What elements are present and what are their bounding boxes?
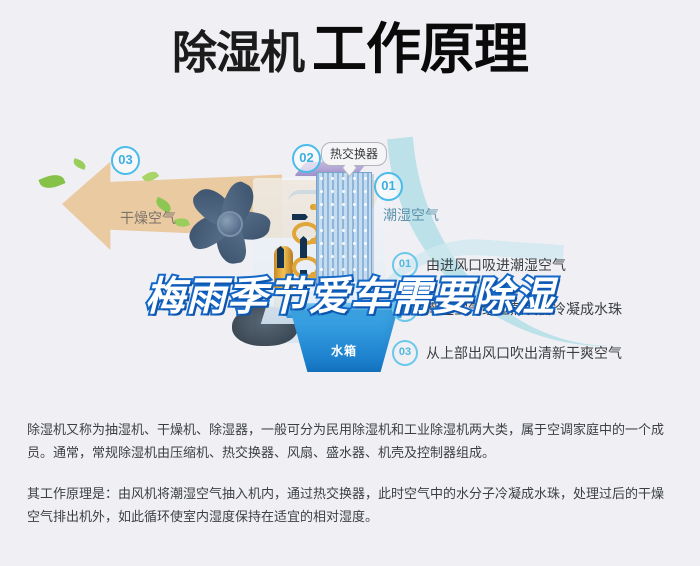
diagram-stage: 水箱 03 02 01 热交换器 干燥空气 潮湿空气 01 由进风口吸进潮湿空气…: [0, 110, 700, 395]
diagram-badge-03: 03: [111, 146, 140, 175]
leaf-icon: [72, 158, 87, 170]
fan-hub: [217, 211, 243, 237]
infographic-page: 除湿机工作原理: [0, 0, 700, 566]
flow-arrow-icon: [292, 214, 308, 220]
page-title-part1: 除湿机: [172, 27, 304, 78]
step-number: 03: [392, 340, 418, 366]
paragraph-1: 除湿机又称为抽湿机、干燥机、除湿器，一般可分为民用除湿机和工业除湿机两大类，属于…: [27, 418, 673, 464]
step-text: 从上部出风口吹出清新干爽空气: [426, 343, 622, 363]
paragraph-2: 其工作原理是：由风机将潮湿空气抽入机内，通过热交换器，此时空气中的水分子冷凝成水…: [27, 482, 673, 528]
humid-air-label: 潮湿空气: [383, 205, 439, 225]
water-tank-label: 水箱: [283, 342, 405, 359]
dry-air-label: 干燥空气: [120, 208, 176, 228]
page-title: 除湿机工作原理: [0, 22, 700, 77]
page-title-part2: 工作原理: [312, 18, 528, 80]
leaf-icon: [38, 171, 65, 192]
body-copy: 除湿机又称为抽湿机、干燥机、除湿器，一般可分为民用除湿机和工业除湿机两大类，属于…: [27, 418, 673, 546]
fan-icon: [178, 172, 278, 272]
heat-exchanger-callout: 热交换器: [321, 142, 387, 166]
overlay-headline: 梅雨季节爱车需要除湿: [0, 264, 700, 322]
flow-arrow-icon: [300, 236, 307, 258]
step-item: 03 从上部出风口吹出清新干爽空气: [392, 338, 692, 368]
diagram-badge-01: 01: [374, 172, 403, 201]
diagram-badge-02: 02: [292, 144, 321, 173]
